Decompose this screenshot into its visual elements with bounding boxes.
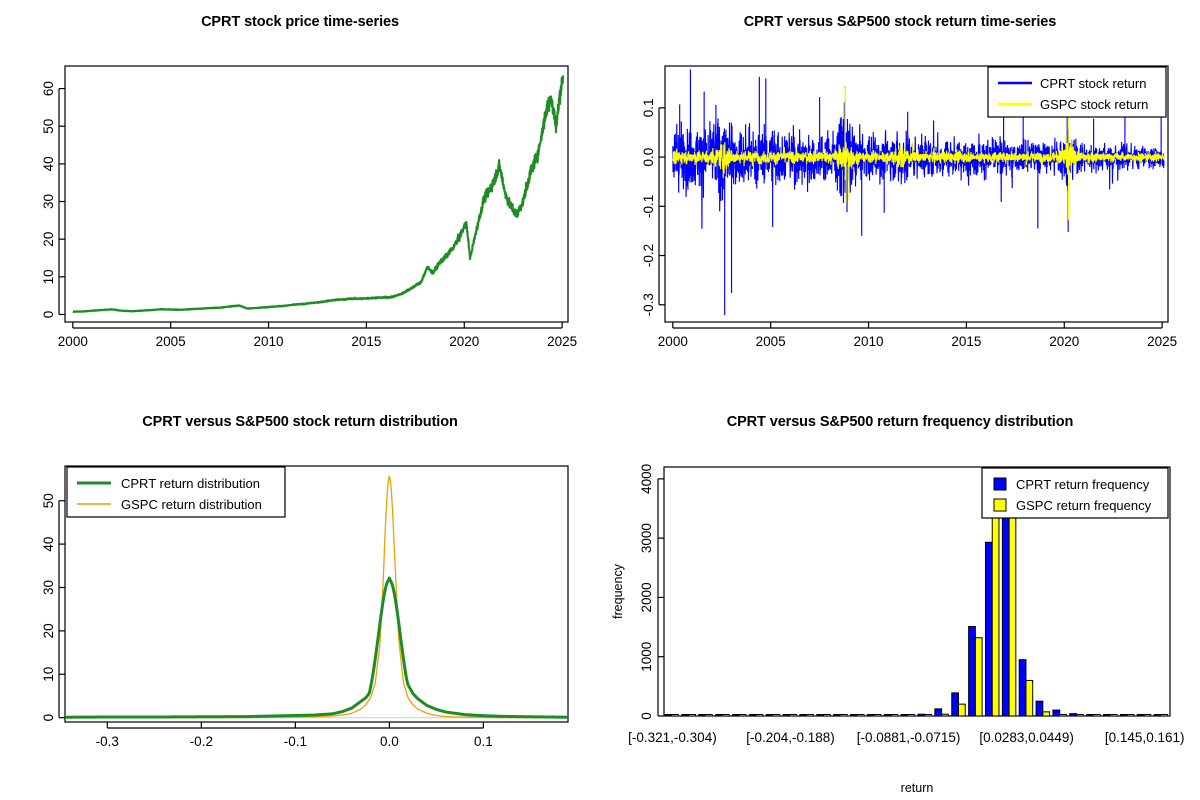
- histogram-bar: [672, 715, 679, 717]
- histogram-bar: [1009, 485, 1016, 716]
- x-tick-label-2015: 2015: [351, 334, 381, 349]
- histogram-bar: [716, 715, 723, 717]
- y-tick-label-50: 50: [41, 493, 56, 508]
- x-tick-label--0.3: -0.3: [96, 734, 119, 749]
- x-tick-label-0.0: 0.0: [380, 734, 399, 749]
- histogram-bar: [732, 715, 739, 717]
- panel-return-distribution: CPRT versus S&P500 stock return distribu…: [0, 400, 600, 800]
- x-tick-label-2025: 2025: [1147, 334, 1177, 349]
- legend-label-1: GSPC return frequency: [1016, 498, 1152, 513]
- price-line: [73, 75, 563, 311]
- y-tick-label-3000: 3000: [639, 523, 654, 553]
- plot-cprt-price: 0102030405060200020052010201520202025: [0, 0, 600, 400]
- x-tick-label--0.1: -0.1: [284, 734, 307, 749]
- y-tick-label-0.1: 0.1: [641, 98, 656, 117]
- histogram-bar: [766, 715, 773, 717]
- histogram-bar: [935, 709, 942, 716]
- x-tick-label-2000: 2000: [58, 334, 88, 349]
- legend-label-1: GSPC return distribution: [121, 497, 262, 512]
- histogram-bar: [874, 715, 881, 717]
- histogram-bar: [908, 715, 915, 717]
- y-tick-label-40: 40: [41, 537, 56, 552]
- histogram-bar: [840, 715, 847, 717]
- x-axis-title: return: [901, 781, 934, 795]
- histogram-bar: [891, 715, 898, 717]
- histogram-bar: [1060, 715, 1067, 717]
- plot-box: [65, 66, 568, 322]
- y-tick-label--0.2: -0.2: [641, 244, 656, 267]
- legend-swatch-square: [994, 478, 1006, 490]
- legend-label-0: CPRT return frequency: [1016, 477, 1150, 492]
- histogram-bar: [901, 715, 908, 717]
- histogram-bar: [1053, 710, 1060, 716]
- y-tick-label-1000: 1000: [639, 642, 654, 672]
- y-tick-label--0.1: -0.1: [641, 195, 656, 218]
- histogram-bar: [1087, 715, 1094, 717]
- histogram-bar: [756, 715, 763, 717]
- x-tick-label-0: [-0.321,-0.304): [628, 730, 717, 745]
- x-tick-label-2020: 2020: [449, 334, 479, 349]
- figure-grid: CPRT stock price time-series 01020304050…: [0, 0, 1200, 800]
- histogram-bar: [807, 715, 814, 717]
- histogram-bar: [790, 715, 797, 717]
- histogram-bar: [1093, 715, 1100, 717]
- histogram-bar: [1104, 715, 1111, 717]
- panel-return-timeseries: CPRT versus S&P500 stock return time-ser…: [600, 0, 1200, 400]
- histogram-bar: [665, 715, 672, 717]
- histogram-bar: [722, 715, 729, 717]
- histogram-bar: [1026, 680, 1033, 716]
- histogram-bar: [682, 715, 689, 717]
- y-tick-label-20: 20: [41, 623, 56, 638]
- histogram-bar: [1161, 715, 1168, 717]
- histogram-bar: [689, 715, 696, 717]
- y-tick-label-0: 0: [639, 712, 654, 720]
- plot-return-histogram: 01000200030004000frequencyreturn[-0.321,…: [600, 400, 1200, 800]
- panel-return-frequency: CPRT versus S&P500 return frequency dist…: [600, 400, 1200, 800]
- histogram-bar: [1110, 715, 1117, 717]
- histogram-bar: [1002, 400, 1009, 716]
- legend-swatch-square: [994, 499, 1006, 511]
- histogram-bar: [925, 715, 932, 717]
- histogram-bar: [851, 715, 858, 717]
- histogram-bar: [749, 715, 756, 717]
- histogram-bar: [1019, 660, 1026, 716]
- plot-return-density: 01020304050-0.3-0.2-0.10.00.1CPRT return…: [0, 400, 600, 800]
- x-tick-label-2010: 2010: [854, 334, 884, 349]
- x-tick-label-2: [-0.0881,-0.0715): [857, 730, 961, 745]
- histogram-bar: [1137, 715, 1144, 717]
- x-tick-label-2000: 2000: [658, 334, 688, 349]
- y-tick-label-10: 10: [41, 269, 56, 284]
- y-tick-label--0.3: -0.3: [641, 293, 656, 316]
- x-tick-label-2010: 2010: [254, 334, 284, 349]
- x-tick-label-2005: 2005: [156, 334, 186, 349]
- y-tick-label-40: 40: [41, 156, 56, 171]
- density-curve: [65, 578, 568, 717]
- legend-label-0: CPRT stock return: [1040, 76, 1146, 91]
- histogram-bar: [857, 715, 864, 717]
- histogram-bar: [1070, 714, 1077, 716]
- return-line: [673, 102, 1164, 229]
- histogram-bar: [918, 714, 925, 716]
- histogram-bar: [739, 715, 746, 717]
- legend-label-1: GSPC stock return: [1040, 97, 1148, 112]
- y-tick-label-0.0: 0.0: [641, 148, 656, 167]
- histogram-bar: [942, 714, 949, 716]
- histogram-bar: [1120, 715, 1127, 717]
- histogram-bar: [783, 715, 790, 717]
- histogram-bar: [1127, 715, 1134, 717]
- x-tick-label-2005: 2005: [756, 334, 786, 349]
- histogram-bar: [1154, 715, 1161, 717]
- histogram-bar: [1043, 712, 1050, 716]
- x-tick-label-2015: 2015: [951, 334, 981, 349]
- y-tick-label-50: 50: [41, 119, 56, 134]
- histogram-bar: [817, 715, 824, 717]
- histogram-bar: [1036, 701, 1043, 716]
- y-axis-title: frequency: [611, 563, 625, 619]
- y-tick-label-30: 30: [41, 580, 56, 595]
- x-tick-label-3: [0.0283,0.0449): [979, 730, 1074, 745]
- x-tick-label-0.1: 0.1: [474, 734, 493, 749]
- y-tick-label-0: 0: [41, 714, 56, 722]
- legend-label-0: CPRT return distribution: [121, 476, 260, 491]
- histogram-bar: [699, 715, 706, 717]
- y-tick-label-2000: 2000: [639, 582, 654, 612]
- x-tick-label-2020: 2020: [1049, 334, 1079, 349]
- histogram-bar: [1144, 715, 1151, 717]
- histogram-bar: [773, 715, 780, 717]
- x-tick-label-4: [0.145,0.161): [1105, 730, 1185, 745]
- y-tick-label-20: 20: [41, 232, 56, 247]
- histogram-bar: [834, 715, 841, 717]
- y-tick-label-30: 30: [41, 194, 56, 209]
- x-tick-label--0.2: -0.2: [190, 734, 213, 749]
- bars-group: [665, 400, 1168, 716]
- x-tick-label-1: [-0.204,-0.188): [746, 730, 835, 745]
- histogram-bar: [824, 715, 831, 717]
- histogram-bar: [952, 693, 959, 716]
- histogram-bar: [975, 638, 982, 716]
- y-tick-label-10: 10: [41, 667, 56, 682]
- histogram-bar: [985, 542, 992, 716]
- return-line: [673, 136, 1164, 180]
- y-tick-label-60: 60: [41, 81, 56, 96]
- histogram-bar: [969, 626, 976, 716]
- histogram-bar: [1077, 715, 1084, 717]
- panel-cprt-price-timeseries: CPRT stock price time-series 01020304050…: [0, 0, 600, 400]
- histogram-bar: [884, 715, 891, 717]
- histogram-bar: [958, 704, 965, 716]
- x-tick-label-2025: 2025: [547, 334, 577, 349]
- histogram-bar: [867, 715, 874, 717]
- histogram-bar: [800, 715, 807, 717]
- y-tick-label-4000: 4000: [639, 464, 654, 494]
- y-tick-label-0: 0: [41, 311, 56, 319]
- plot-return-timeseries: -0.3-0.2-0.10.00.12000200520102015202020…: [600, 0, 1200, 400]
- histogram-bar: [705, 715, 712, 717]
